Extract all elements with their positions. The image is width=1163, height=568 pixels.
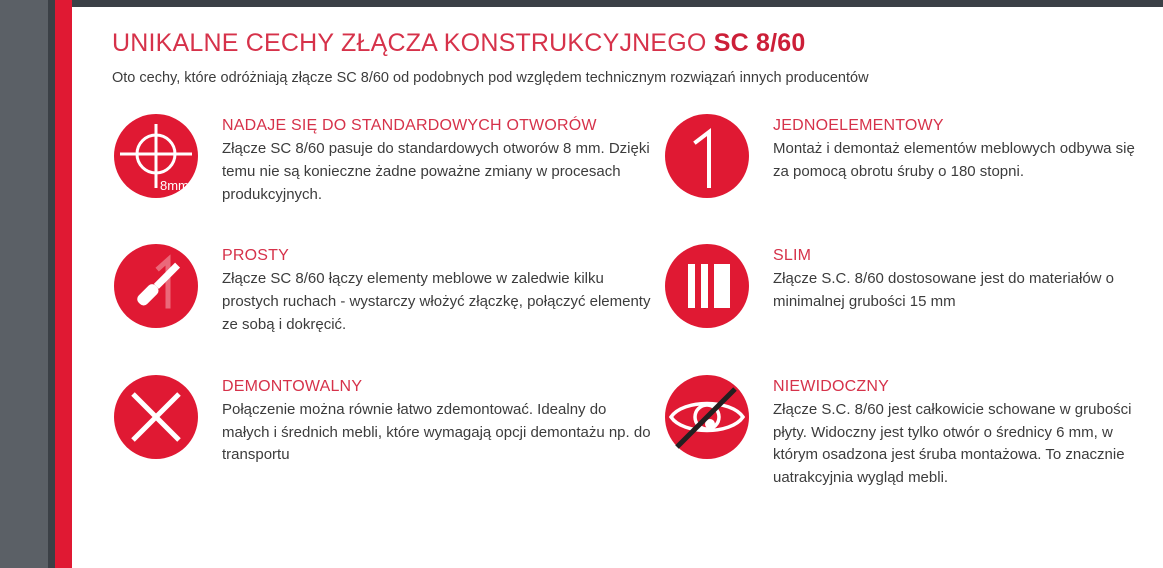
screwdriver-icon bbox=[112, 242, 200, 330]
feature-text: SLIM Złącze S.C. 8/60 dostosowane jest d… bbox=[773, 242, 1143, 314]
feature-body: Złącze S.C. 8/60 jest całkowicie schowan… bbox=[773, 399, 1143, 490]
feature-text: JEDNOELEMENTOWY Montaż i demontaż elemen… bbox=[773, 112, 1143, 184]
feature-text: DEMONTOWALNY Połączenie można równie łat… bbox=[222, 373, 652, 467]
page-title: UNIKALNE CECHY ZŁĄCZA KONSTRUKCYJNEGO SC… bbox=[112, 29, 1163, 58]
page-title-main: UNIKALNE CECHY ZŁĄCZA KONSTRUKCYJNEGO bbox=[112, 29, 714, 57]
page-title-product-code: SC 8/60 bbox=[714, 29, 806, 57]
content-area: UNIKALNE CECHY ZŁĄCZA KONSTRUKCYJNEGO SC… bbox=[72, 7, 1163, 568]
feature-text: PROSTY Złącze SC 8/60 łączy elementy meb… bbox=[222, 242, 652, 336]
features-grid: 8mm NADAJE SIĘ DO STANDARDOWYCH OTWORÓW … bbox=[112, 112, 1163, 518]
feature-item-slim: SLIM Złącze S.C. 8/60 dostosowane jest d… bbox=[663, 242, 1163, 336]
feature-body: Złącze S.C. 8/60 dostosowane jest do mat… bbox=[773, 268, 1143, 314]
cross-x-icon bbox=[112, 373, 200, 461]
feature-item-standard-holes: 8mm NADAJE SIĘ DO STANDARDOWYCH OTWORÓW … bbox=[112, 112, 663, 206]
feature-text: NADAJE SIĘ DO STANDARDOWYCH OTWORÓW Złąc… bbox=[222, 112, 652, 206]
three-bars-slim-icon bbox=[663, 242, 751, 330]
feature-item-single-element: JEDNOELEMENTOWY Montaż i demontaż elemen… bbox=[663, 112, 1163, 206]
feature-heading: NADAJE SIĘ DO STANDARDOWYCH OTWORÓW bbox=[222, 117, 652, 135]
eye-slashed-hidden-icon bbox=[663, 373, 751, 461]
feature-item-invisible: NIEWIDOCZNY Złącze S.C. 8/60 jest całkow… bbox=[663, 373, 1163, 490]
feature-heading: JEDNOELEMENTOWY bbox=[773, 117, 1143, 135]
feature-heading: DEMONTOWALNY bbox=[222, 378, 652, 396]
left-edge-red-stripe bbox=[55, 0, 72, 568]
number-one-icon bbox=[663, 112, 751, 200]
svg-text:8mm: 8mm bbox=[160, 178, 189, 193]
crosshair-target-icon: 8mm bbox=[112, 112, 200, 200]
feature-text: NIEWIDOCZNY Złącze S.C. 8/60 jest całkow… bbox=[773, 373, 1143, 490]
feature-item-simple: PROSTY Złącze SC 8/60 łączy elementy meb… bbox=[112, 242, 663, 336]
feature-heading: PROSTY bbox=[222, 247, 652, 265]
feature-body: Połączenie można równie łatwo zdemontowa… bbox=[222, 399, 652, 467]
left-edge-dark-line bbox=[48, 0, 55, 568]
feature-body: Złącze SC 8/60 pasuje do standardowych o… bbox=[222, 138, 652, 206]
top-dark-bar bbox=[72, 0, 1163, 7]
page-subtitle: Oto cechy, które odróżniają złącze SC 8/… bbox=[112, 70, 1163, 86]
feature-heading: SLIM bbox=[773, 247, 1143, 265]
feature-item-demountable: DEMONTOWALNY Połączenie można równie łat… bbox=[112, 373, 663, 490]
feature-heading: NIEWIDOCZNY bbox=[773, 378, 1143, 396]
left-edge-gray-strip bbox=[0, 0, 48, 568]
feature-infographic-page: UNIKALNE CECHY ZŁĄCZA KONSTRUKCYJNEGO SC… bbox=[0, 0, 1163, 568]
feature-body: Montaż i demontaż elementów meblowych od… bbox=[773, 138, 1143, 184]
feature-body: Złącze SC 8/60 łączy elementy meblowe w … bbox=[222, 268, 652, 336]
